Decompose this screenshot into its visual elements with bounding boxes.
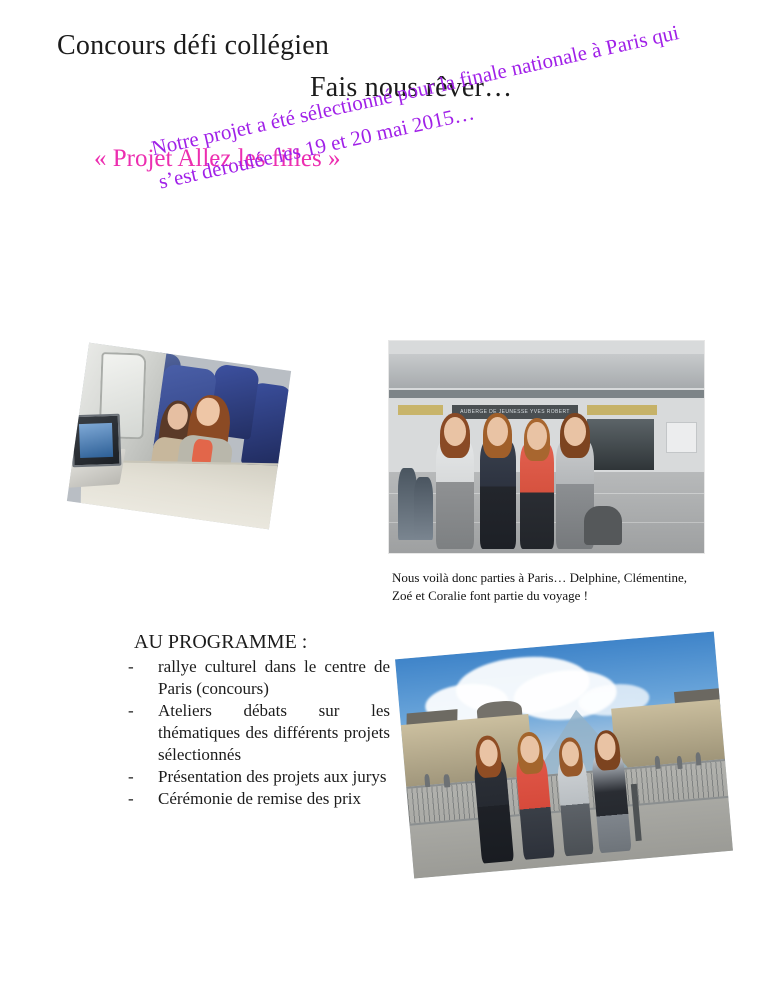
hostel-poster [666,422,696,454]
louvre-visitor-2 [444,774,450,788]
programme-item: - Ateliers débats sur les thématiques de… [128,700,390,766]
programme-item-label: rallye culturel dans le centre de Paris … [158,656,390,700]
hostel-awning-right [587,405,656,416]
programme-item: - rallye culturel dans le centre de Pari… [128,656,390,700]
photo-hostel: AUBERGE DE JEUNESSE YVES ROBERT [388,340,705,554]
train-scene [67,343,291,530]
document-page: Concours défi collégien Fais nous rêver…… [0,0,768,994]
photo-louvre [395,631,733,878]
programme-item-label: Cérémonie de remise des prix [158,788,390,810]
programme-block: AU PROGRAMME : - rallye culturel dans le… [128,630,390,809]
programme-item-label: Présentation des projets aux jurys [158,766,390,788]
bullet-dash-icon: - [128,656,158,678]
laptop-screen [71,414,122,468]
hostel-bollard [584,506,622,544]
programme-item: - Cérémonie de remise des prix [128,788,390,810]
photo-train [67,343,291,530]
hostel-window-row [389,390,704,398]
hostel-upper-balcony [389,354,704,388]
hostel-girl-1 [430,417,480,548]
bullet-dash-icon: - [128,788,158,810]
programme-heading: AU PROGRAMME : [134,630,390,654]
bullet-dash-icon: - [128,766,158,788]
programme-list: - rallye culturel dans le centre de Pari… [128,656,390,809]
hostel-girl-3-face [527,422,546,450]
programme-item: - Présentation des projets aux jurys [128,766,390,788]
hostel-scene: AUBERGE DE JEUNESSE YVES ROBERT [389,341,704,553]
photo-caption: Nous voilà donc parties à Paris… Delphin… [392,569,692,606]
page-title-line-1: Concours défi collégien [57,30,329,62]
programme-item-label: Ateliers débats sur les thématiques des … [158,700,390,766]
bullet-dash-icon: - [128,700,158,722]
hostel-awning-left [398,405,442,416]
louvre-visitor-3 [654,756,660,770]
hostel-girl-4-face [564,417,586,446]
louvre-scene [395,631,733,878]
